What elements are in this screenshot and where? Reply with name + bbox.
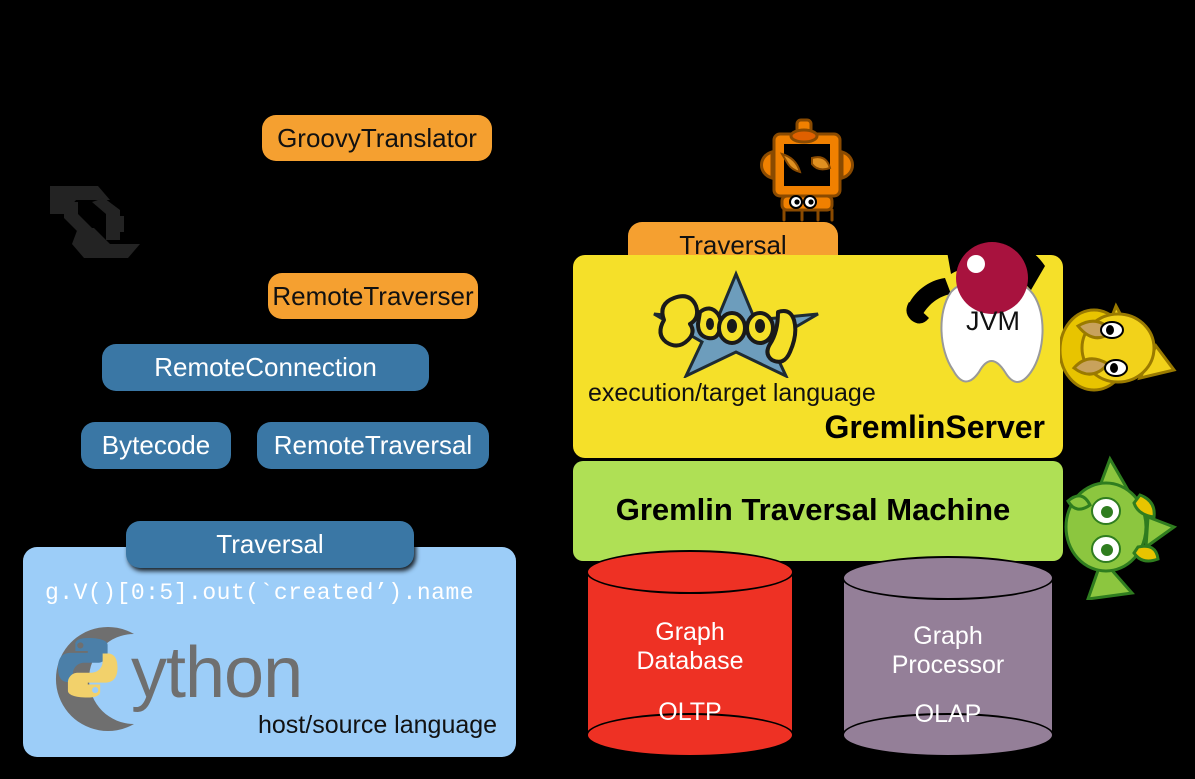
python-host-caption: host/source language — [258, 711, 497, 740]
node-groovy-translator[interactable]: GroovyTranslator — [262, 115, 492, 161]
store-mode: OLTP — [586, 698, 794, 727]
store-mode: OLAP — [842, 700, 1054, 729]
cylinder-top — [842, 556, 1054, 600]
node-bytecode-label: Bytecode — [102, 430, 210, 461]
node-remote-traverser-label: RemoteTraverser — [272, 281, 473, 312]
node-remote-traverser[interactable]: RemoteTraverser — [268, 273, 478, 319]
store-name-line1: Graph — [586, 618, 794, 647]
gremlin-traversal-machine-title: Gremlin Traversal Machine — [573, 492, 1053, 528]
python-code-line: g.V()[0:5].out(`created’).name — [45, 580, 515, 606]
server-title: GremlinServer — [620, 409, 1045, 446]
node-remote-connection[interactable]: RemoteConnection — [102, 344, 429, 391]
node-groovy-translator-label: GroovyTranslator — [277, 123, 477, 154]
gremlin-green-icon — [1062, 455, 1180, 600]
store-name-line2: Processor — [842, 651, 1054, 680]
cylinder-top — [586, 550, 794, 594]
store-graph-processor: Graph Processor OLAP — [842, 556, 1054, 757]
store-graph-database: Graph Database OLTP — [586, 550, 794, 757]
node-traversal-client[interactable]: Traversal — [126, 521, 414, 568]
node-remote-traversal[interactable]: RemoteTraversal — [257, 422, 489, 469]
diagram-canvas: GroovyTranslator RemoteTraverser RemoteC… — [0, 0, 1195, 779]
gremlin-orange-icon — [752, 112, 864, 224]
jython-logo — [48, 180, 144, 260]
gremlin-yellow-icon — [1060, 290, 1180, 408]
jvm-label: JVM — [938, 306, 1048, 337]
motion-lines-icon — [1090, 228, 1136, 274]
server-exec-caption: execution/target language — [588, 379, 876, 408]
node-traversal-client-label: Traversal — [216, 529, 323, 560]
store-name-line1: Graph — [842, 622, 1054, 651]
node-bytecode[interactable]: Bytecode — [81, 422, 231, 469]
node-remote-connection-label: RemoteConnection — [154, 352, 377, 383]
node-remote-traversal-label: RemoteTraversal — [274, 430, 472, 461]
python-logo-word: ython — [131, 637, 302, 709]
groovy-logo — [636, 268, 836, 378]
store-name-line2: Database — [586, 647, 794, 676]
